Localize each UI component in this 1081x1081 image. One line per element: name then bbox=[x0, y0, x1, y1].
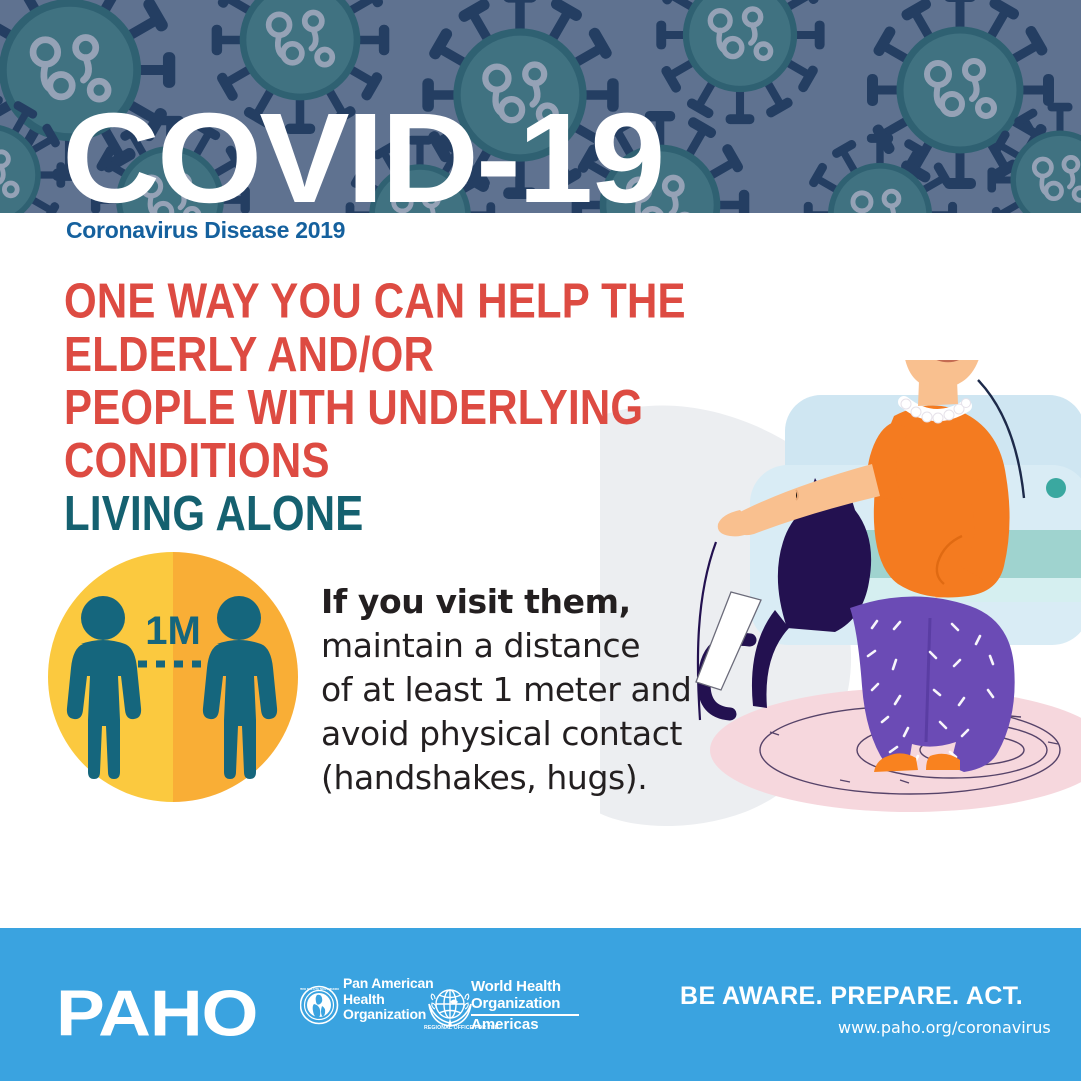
headline-line-1: ONE WAY YOU CAN HELP THE ELDERLY AND/OR bbox=[64, 274, 864, 380]
body-line-2: of at least 1 meter and bbox=[321, 668, 781, 712]
header-band: COVID-19 bbox=[0, 0, 1081, 213]
body-line-1: maintain a distance bbox=[321, 624, 781, 668]
headline-line-2: PEOPLE WITH UNDERLYING CONDITIONS bbox=[64, 380, 864, 486]
paho-lockup-line-1: Pan American bbox=[343, 976, 463, 992]
paho-lockup-text: Pan American Health Organization bbox=[343, 976, 463, 1023]
body-copy: If you visit them, maintain a distance o… bbox=[321, 580, 781, 800]
footer-url[interactable]: www.paho.org/coronavirus bbox=[838, 1018, 1051, 1037]
face bbox=[902, 360, 985, 388]
header-subtitle: Coronavirus Disease 2019 bbox=[66, 217, 345, 244]
body-lead: If you visit them, bbox=[321, 580, 781, 624]
headline: ONE WAY YOU CAN HELP THE ELDERLY AND/OR … bbox=[64, 274, 864, 540]
footer-tagline: BE AWARE. PREPARE. ACT. bbox=[680, 982, 1023, 1011]
paho-wordmark: PAHO bbox=[56, 982, 257, 1047]
who-region-name: Americas bbox=[471, 1016, 539, 1033]
who-lockup-text: World Health Organization bbox=[471, 979, 581, 1012]
organization-lockups: PRO SALUTE NOVI MUNDI bbox=[300, 976, 570, 1038]
who-lockup-line-2: Organization bbox=[471, 996, 581, 1013]
paho-lockup-line-3: Organization bbox=[343, 1007, 463, 1023]
svg-text:PRO SALUTE NOVI MUNDI: PRO SALUTE NOVI MUNDI bbox=[300, 987, 339, 991]
covid19-paho-infographic: COVID-19 Coronavirus Disease 2019 bbox=[0, 0, 1081, 1081]
body-line-3: avoid physical contact bbox=[321, 712, 781, 756]
social-distancing-icon: 1M 1M bbox=[48, 552, 298, 802]
headline-line-3: LIVING ALONE bbox=[64, 486, 864, 539]
body-line-4: (handshakes, hugs). bbox=[321, 756, 781, 800]
paho-globe-seal-icon: PRO SALUTE NOVI MUNDI bbox=[300, 987, 339, 1024]
distance-label: 1M bbox=[145, 609, 201, 653]
who-lockup-line-1: World Health bbox=[471, 979, 581, 996]
teal-dot bbox=[1046, 478, 1066, 498]
page-title: COVID-19 bbox=[62, 95, 662, 213]
paho-lockup-line-2: Health bbox=[343, 992, 463, 1008]
